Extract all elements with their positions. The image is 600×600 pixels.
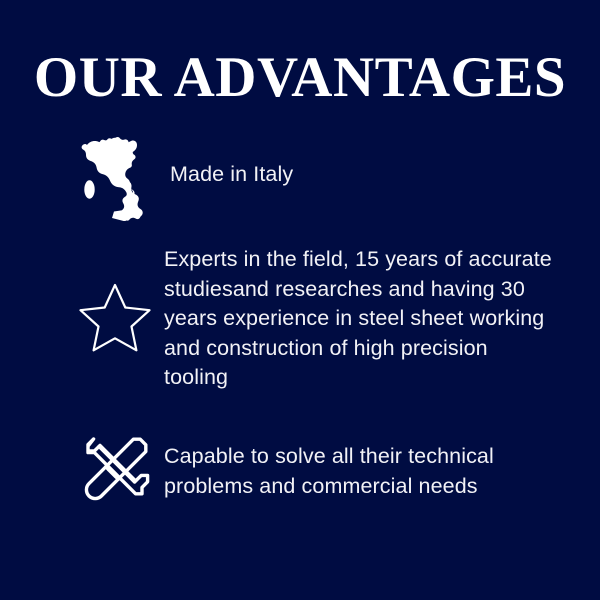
advantage-item-made-in-italy: Made in Italy (70, 133, 590, 221)
advantage-text-2: Capable to solve all their technical pro… (160, 428, 556, 501)
star-outline-icon (70, 243, 160, 391)
advantage-item-support: Capable to solve all their technical pro… (70, 428, 590, 512)
advantage-text-0: Made in Italy (160, 133, 590, 190)
advantage-item-experts: Experts in the field, 15 years of accura… (70, 243, 590, 393)
italy-map-icon (70, 133, 160, 221)
page-title: OUR ADVANTAGES (0, 48, 600, 108)
advantage-text-1: Experts in the field, 15 years of accura… (160, 243, 556, 393)
wrench-screwdriver-icon (70, 428, 160, 512)
advantages-poster: OUR ADVANTAGES Made in Italy (0, 0, 600, 600)
